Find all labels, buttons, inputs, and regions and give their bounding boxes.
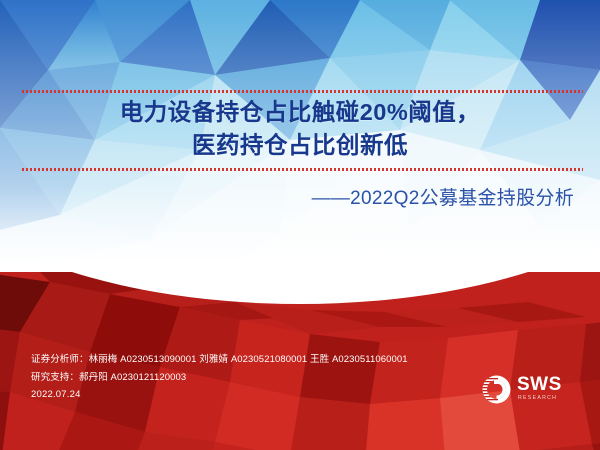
analysts-line: 证券分析师：林丽梅 A0230513090001 刘雅婧 A0230521080… (31, 351, 408, 369)
page-subtitle: ——2022Q2公募基金持股分析 (312, 186, 574, 212)
page-title: 电力设备持仓占比触碰20%阈值， 医药持仓占比创新低 (0, 96, 600, 162)
report-cover-slide: 电力设备持仓占比触碰20%阈值， 医药持仓占比创新低 ——2022Q2公募基金持… (0, 0, 600, 450)
dotted-rule-bottom (22, 168, 583, 171)
title-line-2: 医药持仓占比创新低 (0, 129, 600, 162)
publish-date: 2022.07.24 (31, 386, 408, 404)
footer-credits: 证券分析师：林丽梅 A0230513090001 刘雅婧 A0230521080… (31, 351, 408, 404)
dotted-rule-top (22, 90, 583, 93)
sws-logo: SWS RESEARCH (481, 374, 581, 408)
sws-circular-mark (481, 374, 512, 405)
title-line-1: 电力设备持仓占比触碰20%阈值， (0, 96, 600, 129)
sws-wordmark: SWS (517, 375, 562, 395)
sws-subtext: RESEARCH (518, 395, 557, 402)
research-support-line: 研究支持：郝丹阳 A0230121120003 (31, 369, 408, 387)
